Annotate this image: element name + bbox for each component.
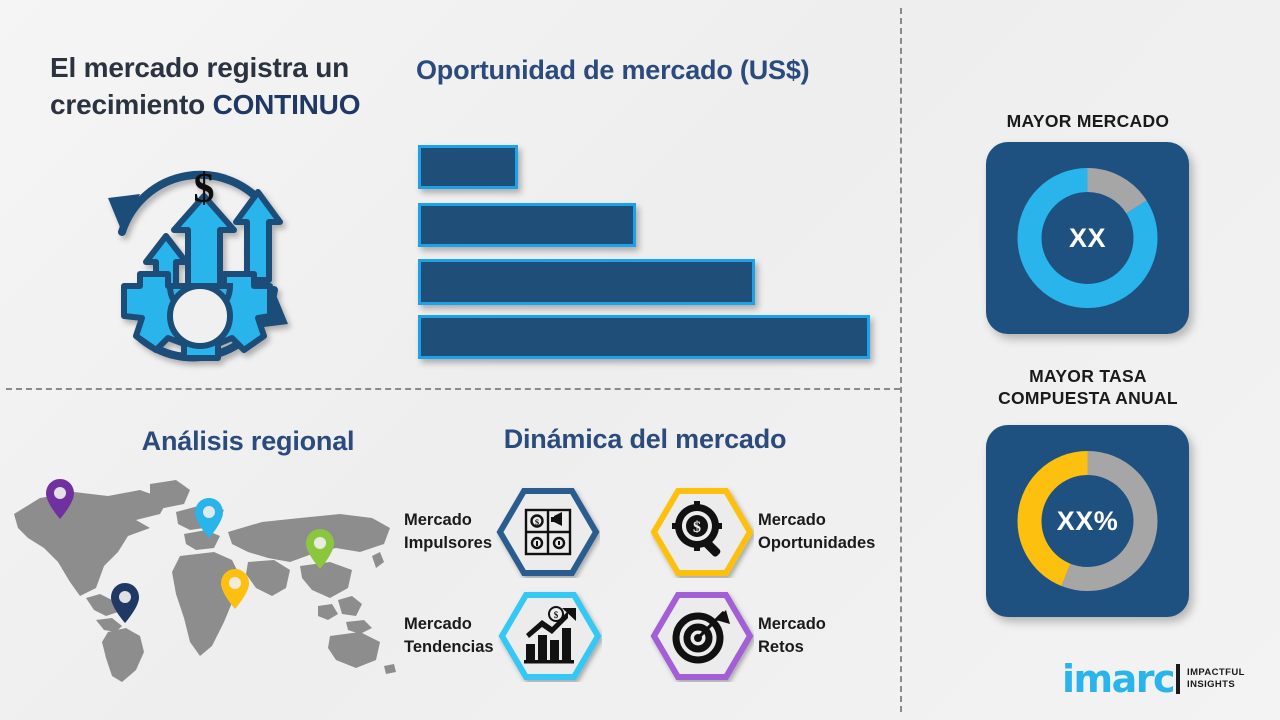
logo-separator: [1176, 664, 1180, 694]
opportunities-label: Mercado Oportunidades: [758, 509, 875, 556]
largest-market-heading: MAYOR MERCADO: [958, 110, 1218, 132]
svg-text:$: $: [693, 519, 701, 536]
highest-cagr-heading: MAYOR TASA COMPUESTA ANUAL: [958, 365, 1218, 410]
bar-year-2: [418, 203, 636, 247]
vertical-divider: [900, 8, 902, 712]
growth-bar-chart-icon: $: [498, 590, 602, 682]
pin-north-america: [45, 478, 75, 520]
dynamics-item-opportunities[interactable]: $ Mercado Oportunidades: [650, 486, 875, 578]
drivers-label: Mercado Impulsores: [404, 509, 492, 556]
magnifier-dollar-icon: $: [650, 486, 754, 578]
dynamics-item-drivers[interactable]: Mercado Impulsores $: [404, 486, 600, 578]
growth-gear-arrows-icon: $: [78, 140, 310, 372]
growth-headline: El mercado registra un crecimiento CONTI…: [50, 50, 410, 124]
growth-headline-line1: El mercado registra un: [50, 52, 349, 83]
pin-south-america: [110, 582, 140, 624]
opportunity-bar-chart: [418, 145, 878, 360]
pin-europe: [194, 497, 224, 539]
growth-headline-accent: CONTINUO: [213, 89, 361, 120]
largest-market-value: XX: [986, 142, 1189, 334]
svg-text:$: $: [553, 610, 558, 620]
regional-title: Análisis regional: [98, 426, 398, 457]
pin-africa-middle-east: [220, 568, 250, 610]
dynamics-title: Dinámica del mercado: [450, 424, 840, 455]
opportunities-hexagon[interactable]: $: [650, 486, 754, 578]
dynamics-item-challenges[interactable]: Mercado Retos: [650, 590, 826, 682]
bar-year-4: [418, 315, 870, 359]
logo-wordmark: imarc: [1062, 662, 1174, 696]
highest-cagr-donut-card: XX%: [986, 425, 1189, 617]
trends-hexagon[interactable]: $: [498, 590, 602, 682]
bar-year-1: [418, 145, 518, 189]
pin-east-asia: [305, 528, 335, 570]
largest-market-donut-card: XX: [986, 142, 1189, 334]
drivers-hexagon[interactable]: $: [496, 486, 600, 578]
highest-cagr-value: XX%: [986, 425, 1189, 617]
growth-headline-line2: crecimiento: [50, 89, 213, 120]
target-dart-icon: [650, 590, 754, 682]
imarc-logo: imarc IMPACTFUL INSIGHTS: [1062, 656, 1262, 702]
logo-tagline: IMPACTFUL INSIGHTS: [1187, 667, 1245, 691]
infographic-canvas: El mercado registra un crecimiento CONTI…: [0, 0, 1280, 720]
svg-text:$: $: [194, 166, 215, 212]
trends-label: Mercado Tendencias: [404, 613, 494, 660]
challenges-hexagon[interactable]: [650, 590, 754, 682]
bar-year-3: [418, 259, 755, 305]
challenges-label: Mercado Retos: [758, 613, 826, 660]
horizontal-divider: [6, 388, 900, 390]
world-map: [0, 470, 400, 682]
opportunity-title: Oportunidad de mercado (US$): [416, 55, 886, 86]
dynamics-item-trends[interactable]: Mercado Tendencias: [404, 590, 602, 682]
puzzle-pieces-icon: $: [496, 486, 600, 578]
